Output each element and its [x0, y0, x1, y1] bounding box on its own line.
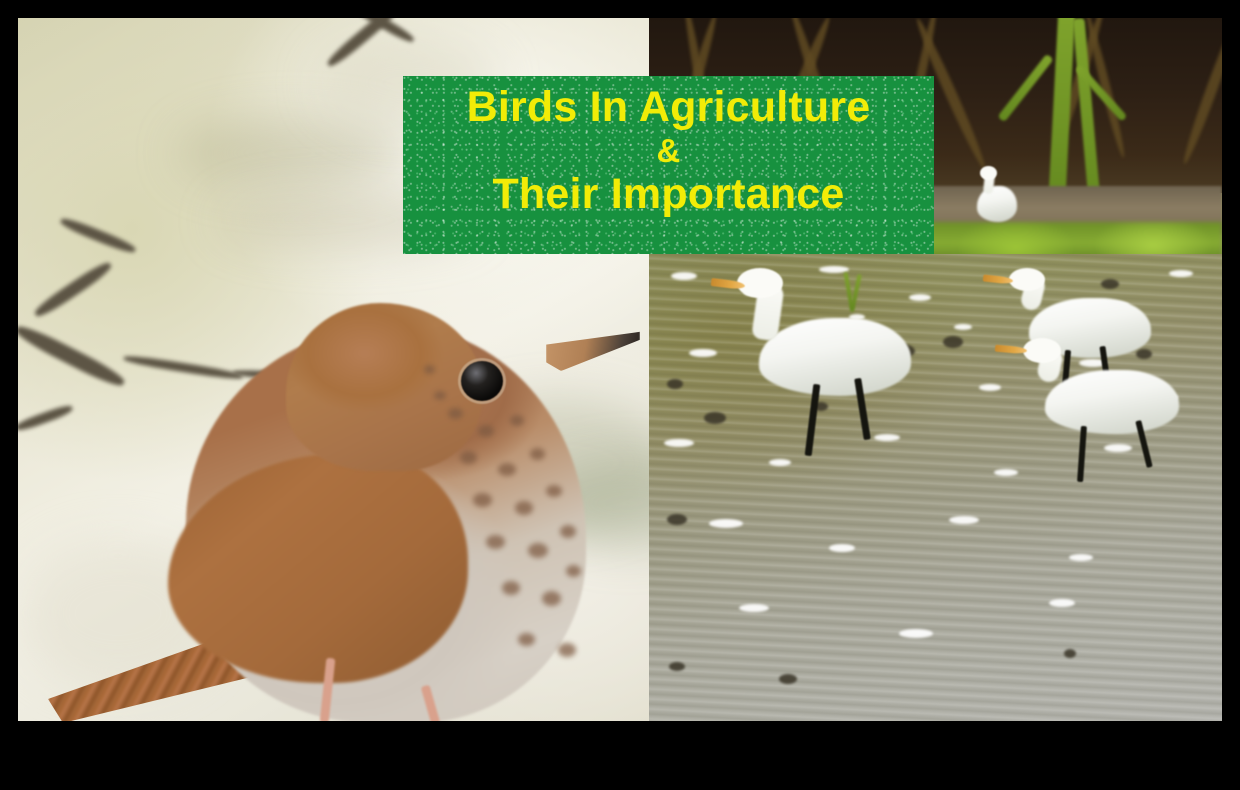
breast-speckle	[558, 643, 576, 657]
water-sparkle	[954, 324, 972, 330]
egret-wading-lower-right	[991, 336, 1191, 486]
title-line-1: Birds In Agriculture	[467, 86, 871, 129]
egret-head	[1023, 338, 1061, 363]
egret-head	[1009, 268, 1045, 291]
egret-beak	[995, 345, 1027, 355]
breast-speckle	[448, 408, 463, 419]
egret-leg	[805, 384, 821, 456]
breast-speckle	[542, 591, 561, 606]
thrush-beak	[546, 331, 640, 371]
breast-speckle	[473, 493, 492, 507]
water-surface	[649, 254, 1222, 721]
water-debris	[1064, 649, 1076, 658]
green-reed-stalk	[997, 54, 1053, 123]
palm-frond	[1179, 18, 1222, 166]
thrush-bird	[18, 303, 649, 721]
water-debris	[667, 514, 687, 525]
breast-speckle	[560, 525, 576, 538]
water-debris	[779, 674, 797, 684]
egret-head	[980, 166, 997, 180]
water-debris	[667, 379, 683, 389]
breast-speckle	[530, 448, 545, 460]
breast-speckle	[528, 543, 548, 558]
water-sparkle	[664, 439, 694, 447]
water-debris	[669, 662, 685, 671]
breast-speckle	[498, 463, 516, 476]
water-sparkle	[1049, 599, 1075, 607]
egret-wading-left	[711, 266, 931, 466]
breast-speckle	[515, 501, 533, 515]
water-sparkle	[1169, 270, 1193, 277]
thrush-eye	[461, 361, 503, 401]
breast-speckle	[434, 391, 446, 400]
bokeh-blot	[178, 118, 408, 188]
breast-speckle	[460, 451, 477, 464]
egret-on-bank	[971, 166, 1023, 228]
egret-head	[737, 268, 783, 298]
thrush-head	[286, 303, 482, 471]
egret-leg	[1077, 426, 1087, 482]
breast-speckle	[424, 365, 435, 374]
egret-body	[759, 318, 911, 396]
egret-body	[1045, 370, 1179, 434]
breast-speckle	[518, 633, 535, 646]
water-sparkle	[739, 604, 769, 612]
breast-speckle	[502, 581, 520, 595]
breast-speckle	[510, 415, 524, 426]
water-sparkle	[829, 544, 855, 552]
photo-canvas: Birds In Agriculture & Their Importance	[18, 18, 1222, 721]
water-sparkle	[709, 519, 743, 528]
title-line-3: Their Importance	[492, 173, 844, 216]
water-sparkle	[899, 629, 933, 638]
breast-speckle	[566, 565, 581, 577]
water-sparkle	[1069, 554, 1093, 561]
poster-root: Birds In Agriculture & Their Importance	[0, 0, 1240, 790]
breast-speckle	[478, 425, 494, 437]
breast-speckle	[546, 485, 562, 497]
branch-twig	[59, 215, 137, 255]
breast-speckle	[486, 535, 505, 549]
water-sparkle	[671, 272, 697, 280]
title-banner: Birds In Agriculture & Their Importance	[403, 76, 934, 254]
water-debris	[943, 336, 963, 348]
title-line-ampersand: &	[656, 134, 680, 167]
water-sparkle	[949, 516, 979, 524]
